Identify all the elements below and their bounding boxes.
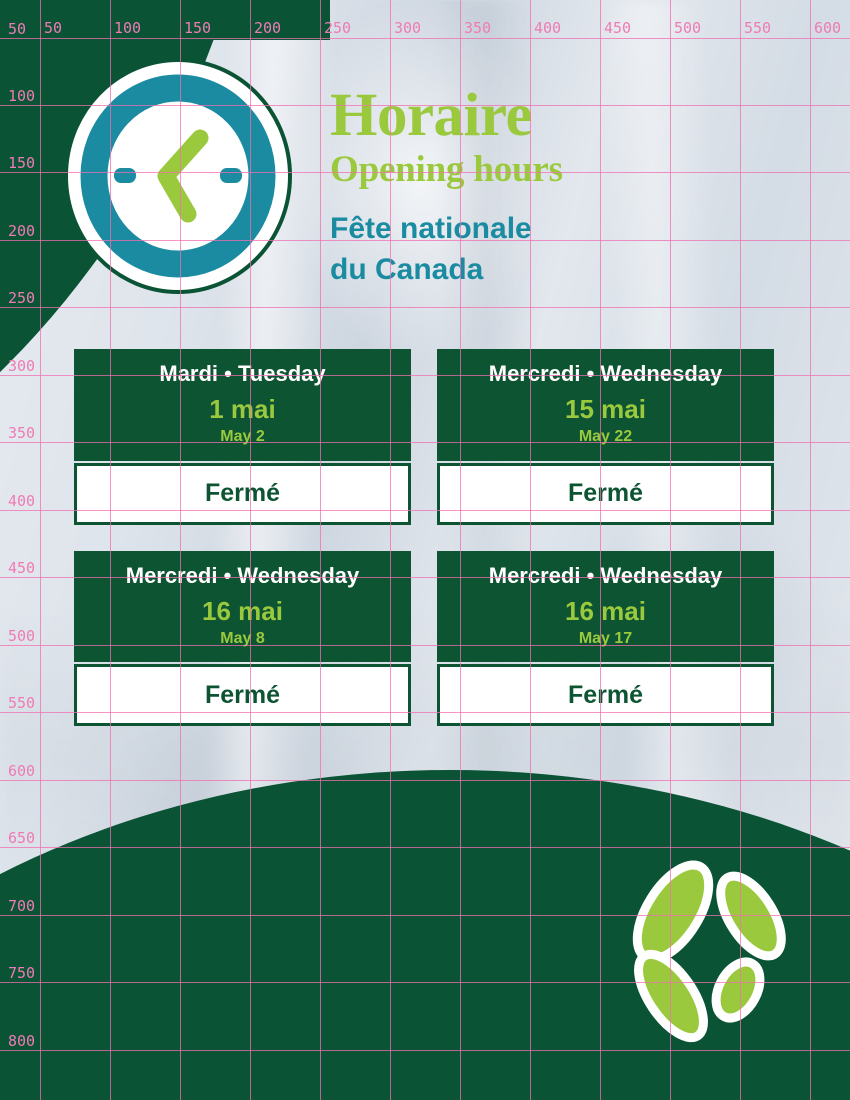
schedule-grid: Mardi • Tuesday 1 mai May 2 Fermé Mercre… [74,349,774,752]
schedule-card: Mardi • Tuesday 1 mai May 2 Fermé [74,349,411,525]
status-badge: Fermé [205,681,280,710]
schedule-card-header: Mardi • Tuesday 1 mai May 2 [74,349,411,461]
page-title-en: Opening hours [330,150,800,189]
schedule-card-date-en: May 17 [443,629,768,648]
schedule-card: Mercredi • Wednesday 15 mai May 22 Fermé [437,349,774,525]
butterfly-icon [615,858,807,1050]
schedule-row: Mercredi • Wednesday 16 mai May 8 Fermé … [74,551,774,727]
schedule-card-date-fr: 16 mai [443,596,768,627]
event-name-line1: Fête nationale [330,209,800,250]
poster-canvas: Horaire Opening hours Fête nationale du … [0,0,850,1100]
schedule-card-day: Mardi • Tuesday [80,361,405,386]
status-badge: Fermé [205,479,280,508]
event-name-line2: du Canada [330,250,800,291]
event-name: Fête nationale du Canada [330,209,800,291]
schedule-card-body: Fermé [74,463,411,525]
schedule-card-date-en: May 22 [443,427,768,446]
status-badge: Fermé [568,479,643,508]
schedule-card-header: Mercredi • Wednesday 15 mai May 22 [437,349,774,461]
schedule-card: Mercredi • Wednesday 16 mai May 8 Fermé [74,551,411,727]
page-title-fr: Horaire [330,86,800,146]
schedule-card-body: Fermé [74,664,411,726]
schedule-card-day: Mercredi • Wednesday [443,563,768,588]
clock-icon [64,58,292,294]
schedule-card-day: Mercredi • Wednesday [443,361,768,386]
schedule-card-header: Mercredi • Wednesday 16 mai May 8 [74,551,411,663]
schedule-card-day: Mercredi • Wednesday [80,563,405,588]
schedule-card-date-en: May 2 [80,427,405,446]
schedule-card-date-fr: 1 mai [80,394,405,425]
schedule-card-body: Fermé [437,463,774,525]
schedule-card-date-fr: 15 mai [443,394,768,425]
heading-block: Horaire Opening hours Fête nationale du … [330,86,800,291]
schedule-card-date-en: May 8 [80,629,405,648]
schedule-card: Mercredi • Wednesday 16 mai May 17 Fermé [437,551,774,727]
schedule-card-date-fr: 16 mai [80,596,405,627]
schedule-card-body: Fermé [437,664,774,726]
schedule-card-header: Mercredi • Wednesday 16 mai May 17 [437,551,774,663]
schedule-row: Mardi • Tuesday 1 mai May 2 Fermé Mercre… [74,349,774,525]
status-badge: Fermé [568,681,643,710]
